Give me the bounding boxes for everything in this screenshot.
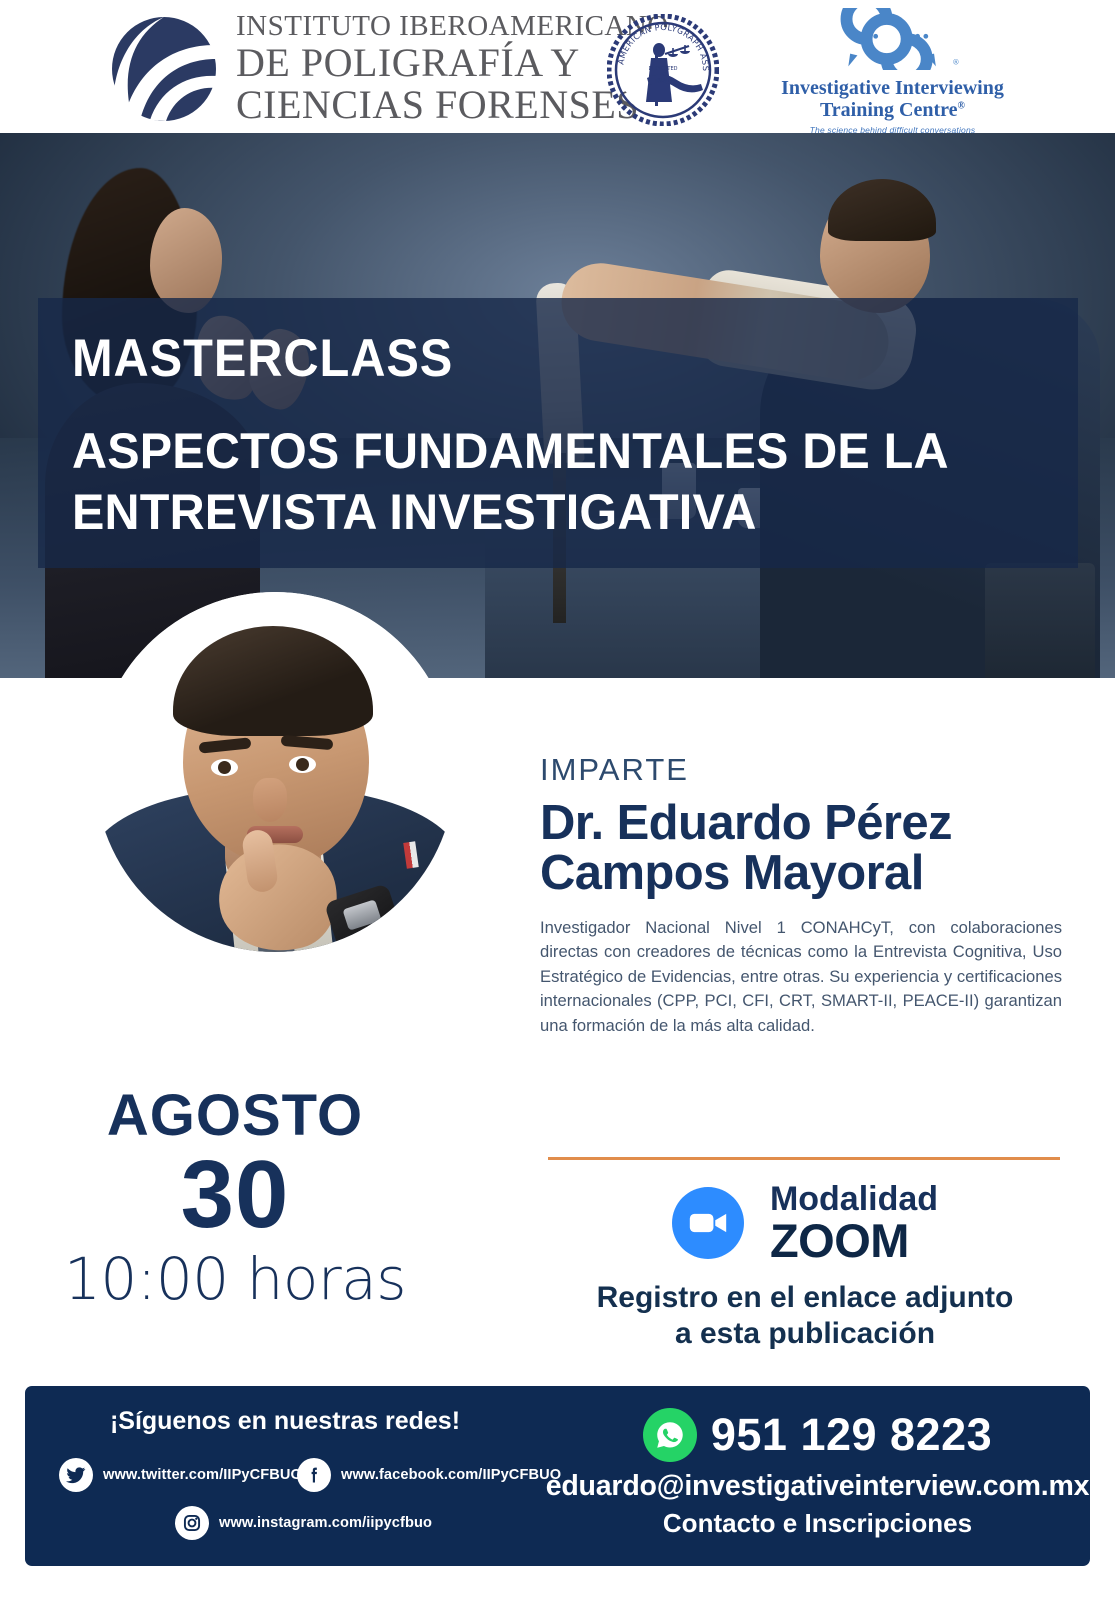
speaker-name-line-2: Campos Mayoral — [540, 848, 1060, 898]
twitter-icon[interactable] — [59, 1458, 93, 1492]
institute-logo-lockup: INSTITUTO IBEROAMERICANO DE POLIGRAFÍA Y… — [110, 12, 669, 125]
facebook-icon[interactable] — [297, 1458, 331, 1492]
whatsapp-contact[interactable]: 951 129 8223 — [545, 1408, 1090, 1462]
institute-line-2: DE POLIGRAFÍA Y — [236, 43, 669, 83]
portrait-pupil-left — [218, 761, 231, 774]
modality-value: ZOOM — [770, 1217, 938, 1265]
facebook-url[interactable]: www.facebook.com/IIPyCFBUO — [341, 1467, 561, 1483]
title-banner: MASTERCLASS ASPECTOS FUNDAMENTALES DE LA… — [38, 298, 1078, 568]
social-link-instagram[interactable]: www.instagram.com/iipycfbuo — [175, 1506, 432, 1540]
globe-swoosh-icon — [110, 14, 218, 124]
whatsapp-number[interactable]: 951 129 8223 — [711, 1409, 992, 1461]
hero-person-right-hair — [828, 179, 936, 241]
whatsapp-icon[interactable] — [643, 1408, 697, 1462]
modality-block: Modalidad ZOOM — [540, 1182, 1070, 1265]
registration-note: Registro en el enlace adjunto a esta pub… — [540, 1280, 1070, 1352]
event-day: 30 — [0, 1140, 470, 1250]
registration-line-1: Registro en el enlace adjunto — [540, 1280, 1070, 1316]
speaker-bio: Investigador Nacional Nivel 1 CONAHCyT, … — [540, 916, 1062, 1038]
event-month: AGOSTO — [0, 1082, 470, 1149]
iitc-registered-mark: ® — [958, 101, 965, 112]
event-time: 10:00 horas — [0, 1245, 470, 1313]
poster-root: INSTITUTO IBEROAMERICANO DE POLIGRAFÍA Y… — [0, 0, 1115, 1600]
infinity-speech-bubbles-icon: ® — [818, 8, 968, 75]
masterclass-kicker: MASTERCLASS — [72, 332, 998, 385]
imparte-label: IMPARTE — [540, 752, 689, 788]
social-link-facebook[interactable]: www.facebook.com/IIPyCFBUO — [297, 1458, 561, 1492]
iitc-name-line-1: Investigative Interviewing — [781, 77, 1004, 99]
modality-label: Modalidad — [770, 1182, 938, 1217]
zoom-camera-icon — [672, 1187, 744, 1259]
svg-text:®: ® — [952, 58, 959, 67]
speaker-portrait-photo — [95, 592, 455, 952]
svg-text:TRUTH: TRUTH — [653, 78, 671, 84]
social-link-twitter[interactable]: www.twitter.com/IIPyCFBUO — [59, 1458, 302, 1492]
modality-labels: Modalidad ZOOM — [770, 1182, 938, 1265]
contact-label: Contacto e Inscripciones — [545, 1508, 1090, 1539]
institute-line-1: INSTITUTO IBEROAMERICANO — [236, 12, 669, 41]
portrait-pupil-right — [296, 758, 309, 771]
registration-line-2: a esta publicación — [540, 1316, 1070, 1352]
poster-title-line-1: ASPECTOS FUNDAMENTALES DE LA — [72, 421, 1048, 482]
speaker-name: Dr. Eduardo Pérez Campos Mayoral — [540, 798, 1060, 899]
twitter-url[interactable]: www.twitter.com/IIPyCFBUO — [103, 1467, 302, 1483]
follow-us-title: ¡Síguenos en nuestras redes! — [25, 1407, 545, 1436]
poster-title: ASPECTOS FUNDAMENTALES DE LA ENTREVISTA … — [72, 421, 1048, 543]
footer-bar: ¡Síguenos en nuestras redes! www.twitter… — [25, 1386, 1090, 1566]
footer-contact-section: 951 129 8223 eduardo@investigativeinterv… — [545, 1386, 1090, 1566]
instagram-url[interactable]: www.instagram.com/iipycfbuo — [219, 1515, 432, 1531]
instagram-icon[interactable] — [175, 1506, 209, 1540]
poster-title-line-2: ENTREVISTA INVESTIGATIVA — [72, 482, 1048, 543]
apa-seal-icon: DEDICATED TO TRUTH AMERICAN POLYGRAPH AS… — [607, 14, 719, 126]
speaker-portrait — [95, 592, 455, 952]
portrait-nose — [253, 778, 287, 822]
contact-email[interactable]: eduardo@investigativeinterview.com.mx — [545, 1470, 1090, 1503]
iitc-name: Investigative Interviewing Training Cent… — [781, 77, 1004, 122]
footer-social-section: ¡Síguenos en nuestras redes! www.twitter… — [25, 1386, 545, 1566]
institute-name: INSTITUTO IBEROAMERICANO DE POLIGRAFÍA Y… — [236, 12, 669, 125]
iitc-name-line-2: Training Centre — [820, 99, 958, 121]
institute-line-3: CIENCIAS FORENSES — [236, 85, 669, 125]
hero-chair — [985, 563, 1095, 678]
speaker-name-line-1: Dr. Eduardo Pérez — [540, 798, 1060, 848]
iitc-logo-lockup: ® Investigative Interviewing Training Ce… — [770, 8, 1015, 130]
header-logo-bar: INSTITUTO IBEROAMERICANO DE POLIGRAFÍA Y… — [0, 0, 1115, 133]
orange-divider — [548, 1157, 1060, 1160]
